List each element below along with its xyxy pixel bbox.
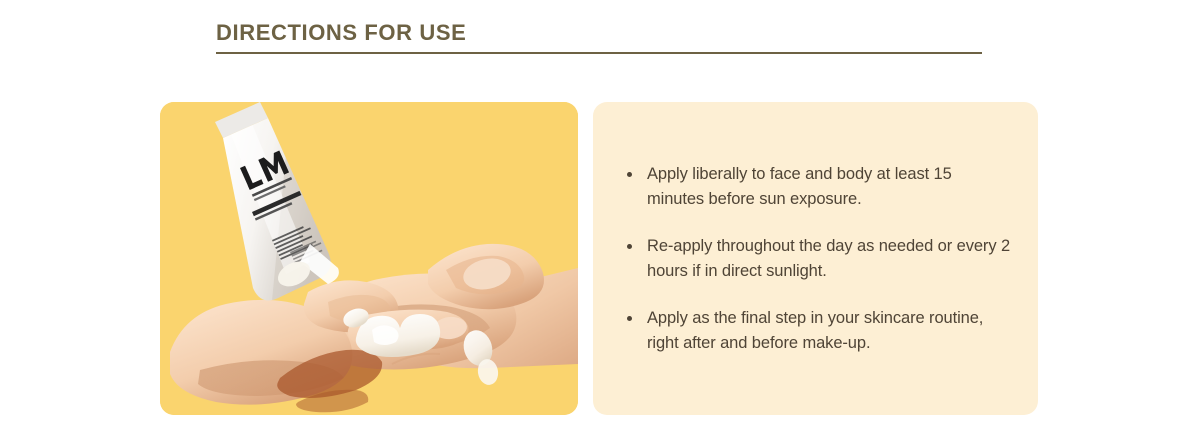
list-item-text: Re-apply throughout the day as needed or…: [647, 237, 1010, 280]
sunscreen-application-illustration: [160, 102, 578, 415]
bullet-dot-icon: [627, 172, 632, 177]
list-item: Apply as the final step in your skincare…: [611, 306, 1012, 356]
content-panels: Apply liberally to face and body at leas…: [160, 102, 1038, 415]
section-heading-block: DIRECTIONS FOR USE: [216, 20, 982, 54]
list-item-text: Apply as the final step in your skincare…: [647, 309, 983, 352]
directions-list: Apply liberally to face and body at leas…: [611, 162, 1012, 356]
product-photo-panel: [160, 102, 578, 415]
list-item: Apply liberally to face and body at leas…: [611, 162, 1012, 212]
list-item-text: Apply liberally to face and body at leas…: [647, 165, 952, 208]
product-photo-image: [160, 102, 578, 415]
heading-divider: [216, 52, 982, 54]
directions-for-use-section: DIRECTIONS FOR USE: [0, 0, 1200, 444]
page-title: DIRECTIONS FOR USE: [216, 20, 982, 46]
directions-text-panel: Apply liberally to face and body at leas…: [593, 102, 1038, 415]
bullet-dot-icon: [627, 244, 632, 249]
bullet-dot-icon: [627, 316, 632, 321]
list-item: Re-apply throughout the day as needed or…: [611, 234, 1012, 284]
